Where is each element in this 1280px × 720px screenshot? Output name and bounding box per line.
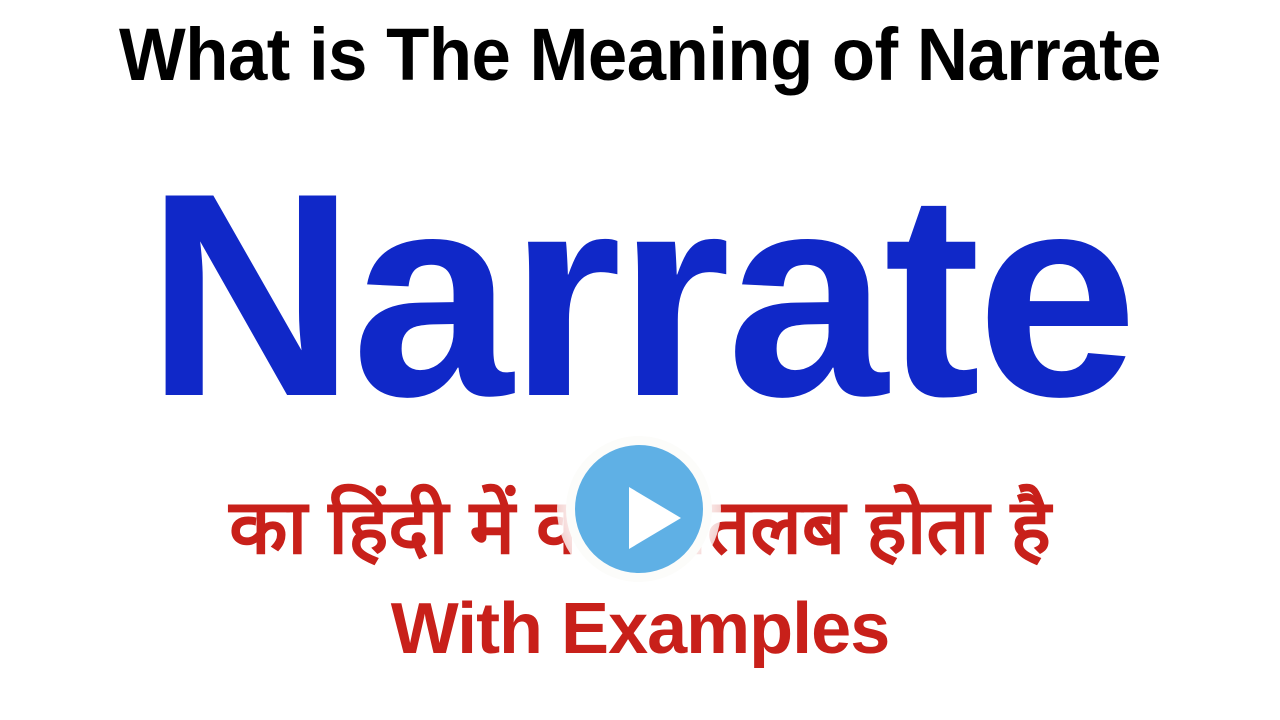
play-button-ring [566,436,712,582]
with-examples-label: With Examples [0,592,1280,666]
play-icon [629,487,681,549]
play-button[interactable] [566,436,712,582]
thumbnail-canvas: What is The Meaning of Narrate Narrate क… [0,0,1280,720]
page-title: What is The Meaning of Narrate [29,16,1251,94]
keyword-row: Narrate [0,150,1280,440]
keyword-text: Narrate [0,150,1280,440]
